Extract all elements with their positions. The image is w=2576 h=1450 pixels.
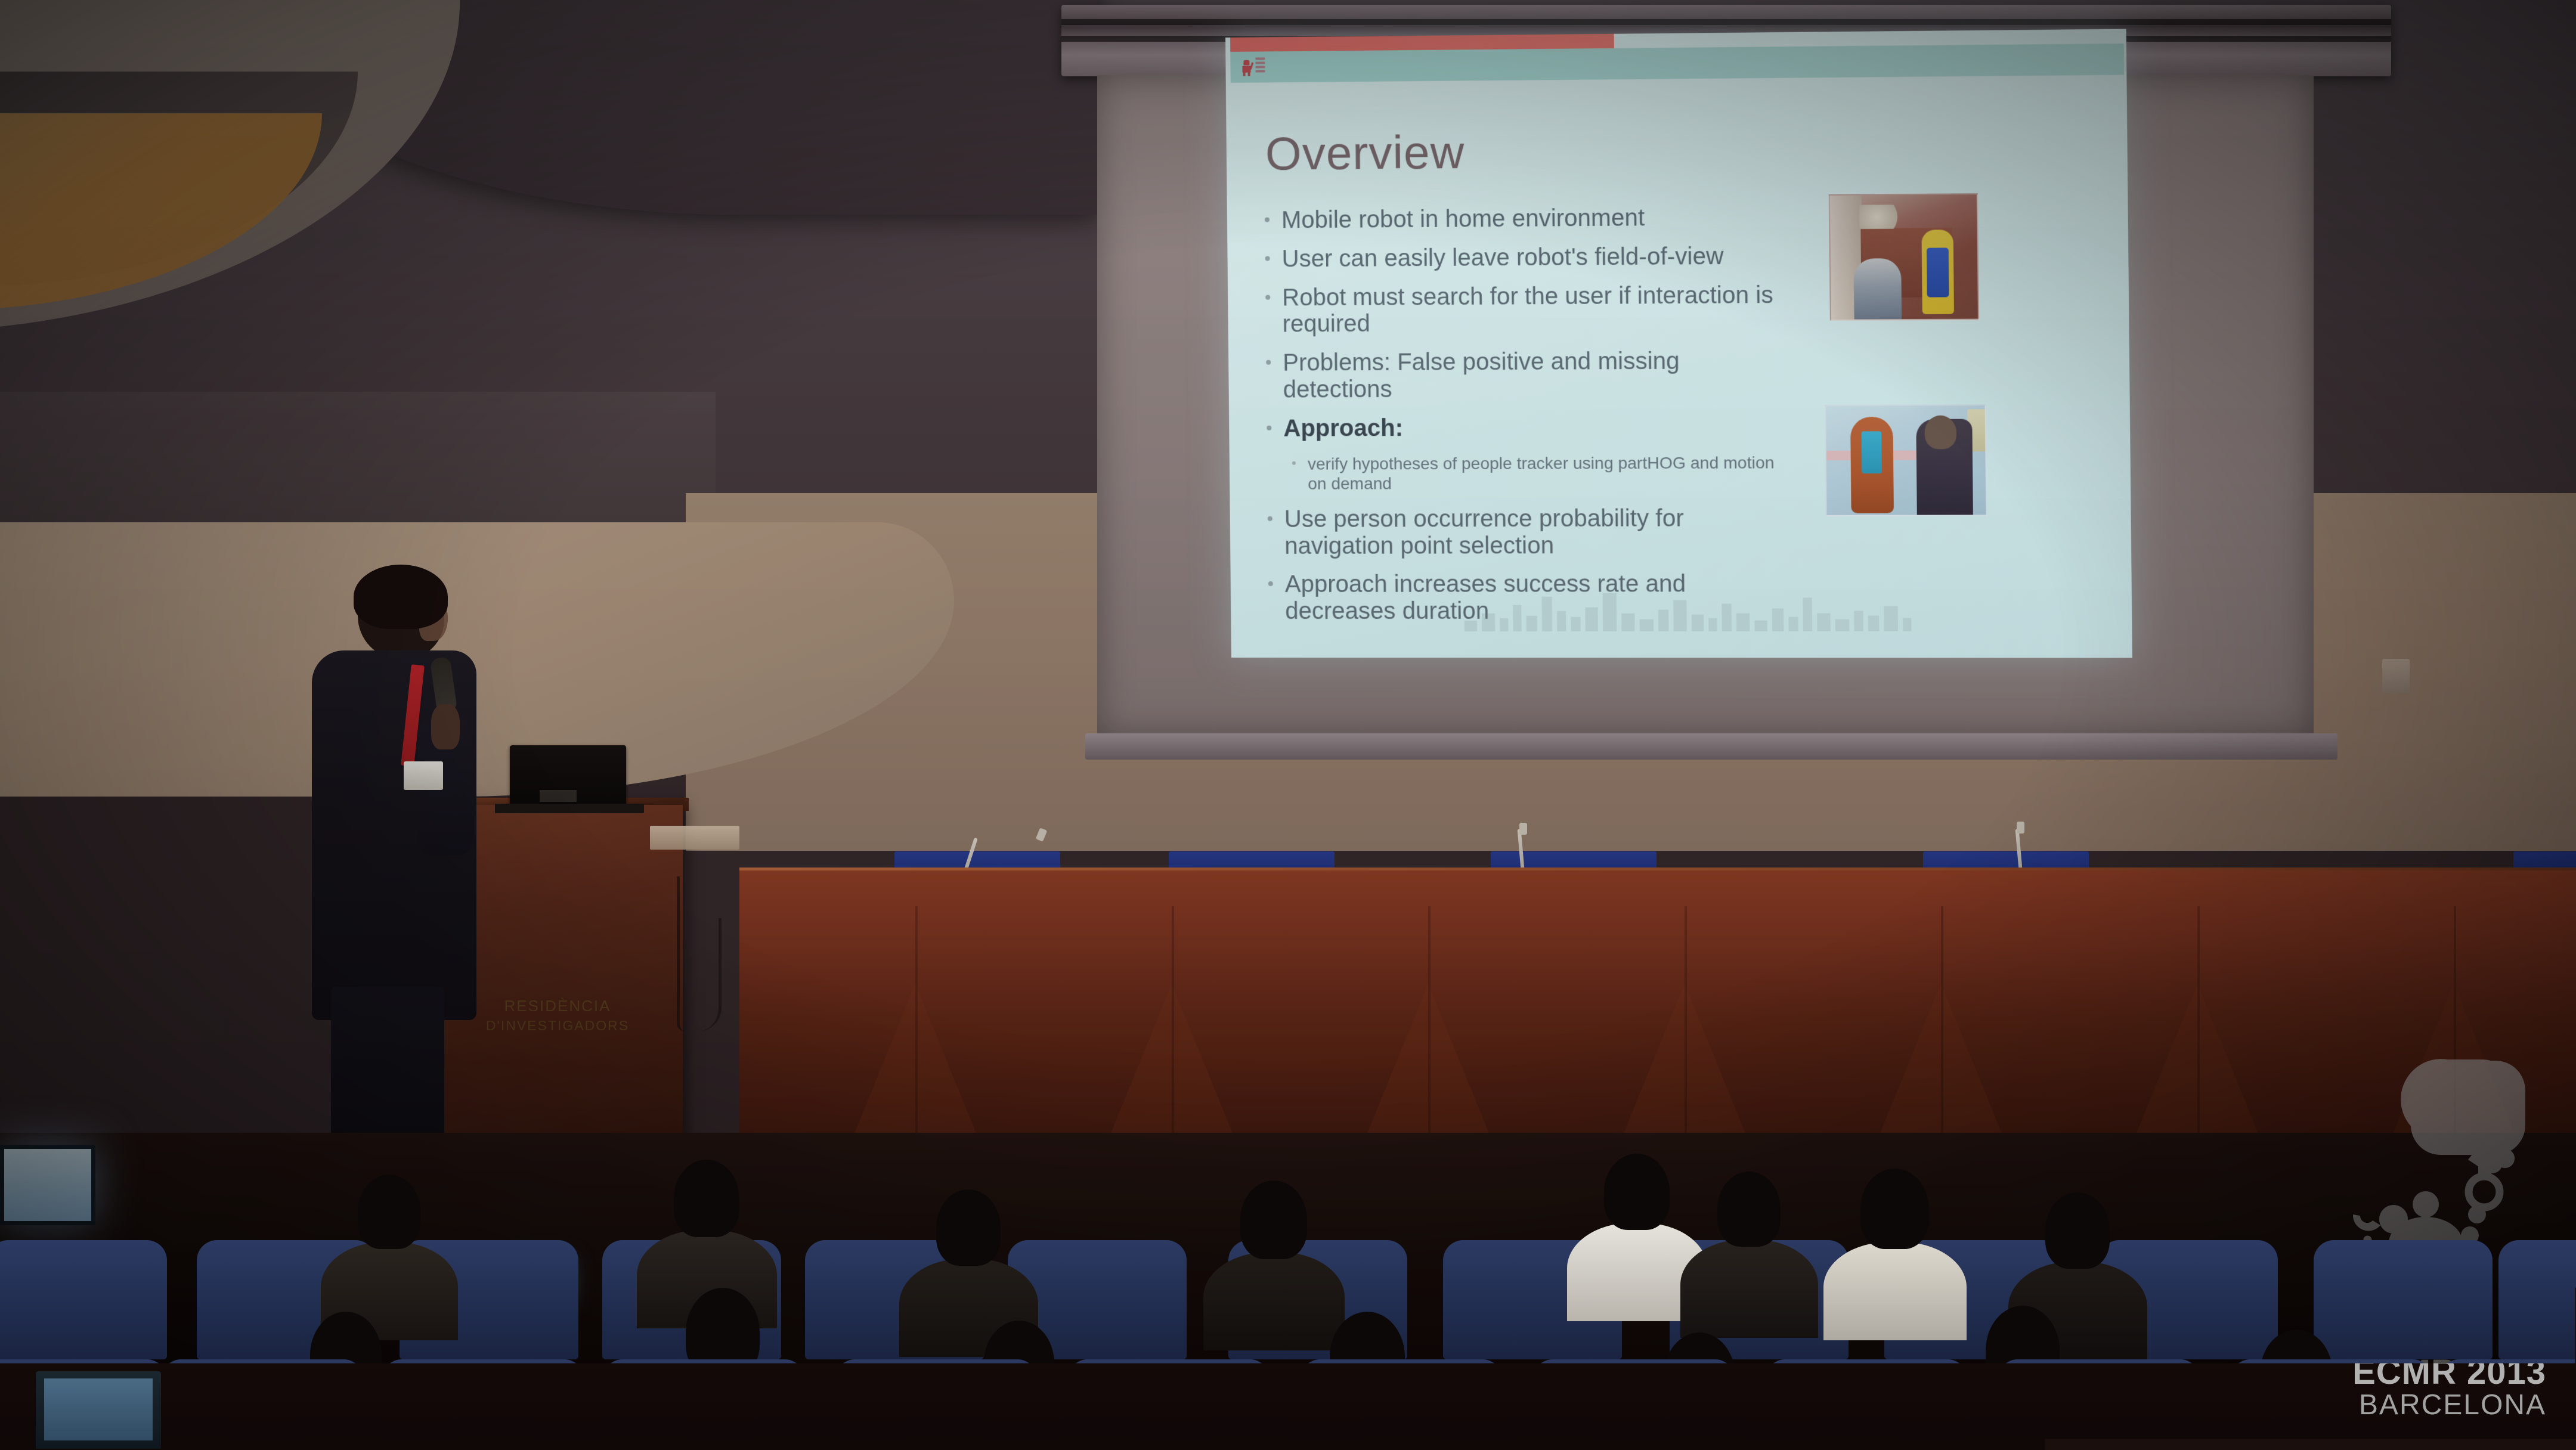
audience-seat [161,1359,364,1450]
microphone-tip [1519,823,1527,835]
audience-seat [2498,1240,2576,1359]
slide-bullet-approach: Approach: [1262,413,1779,442]
audience-seat [602,1359,805,1450]
podium-cable [686,918,722,1031]
audience-seat [1998,1359,2200,1450]
slide-sub-bullet: verify hypotheses of people tracker usin… [1262,453,1780,494]
audience-laptop-open [0,1145,95,1225]
podium-papers [650,826,739,850]
audience-head [1604,1154,1670,1230]
audience-seat [382,1359,584,1450]
slide-bullet: Problems: False positive and missing det… [1261,348,1779,404]
audience-shoulders [1203,1252,1345,1350]
audience-seat [0,1240,167,1359]
audience-area [0,1133,2576,1450]
audience-head [2045,1192,2110,1269]
audience-head [674,1160,739,1237]
audience-seat [1067,1359,1270,1450]
laptop-screen-glow [540,790,577,802]
screen-bottom-bar [1085,733,2337,760]
presenter-name-badge [404,761,443,790]
presenter-hair [354,565,448,629]
audience-shoulders [1823,1242,1967,1340]
podium-cable [677,876,685,1031]
audience-seat [2314,1240,2493,1359]
audience-head [1240,1181,1307,1259]
slide-title: Overview [1265,125,1465,181]
robot-interaction-photo [1825,404,1987,516]
red-robot-logo-icon [1239,55,1280,82]
slide-bullet-list: Mobile robot in home environment User ca… [1260,204,1782,637]
barcelona-skyline-graphic [1464,590,1900,631]
home-robot-photo [1829,193,1979,321]
audience-head [936,1189,1001,1266]
audience-seat [1300,1359,1503,1450]
laptop-base [495,804,644,813]
audience-head [1717,1172,1781,1247]
slide-bullet: Robot must search for the user if intera… [1261,281,1779,338]
projected-slide: Overview Mobile robot in home environmen… [1225,29,2132,658]
audience-head [358,1175,420,1249]
audience-seat [1532,1359,1735,1450]
audience-shoulders [1680,1240,1818,1338]
dark-wall-strip [0,392,716,535]
microphone-tip [2017,822,2024,834]
audience-seat [2439,1359,2576,1450]
slide-bullet: Mobile robot in home environment [1260,204,1778,234]
audience-seat [1765,1359,1968,1450]
audience-seat [0,1359,167,1450]
slide-bullet: User can easily leave robot's field-of-v… [1260,243,1778,272]
audience-seat [2230,1359,2433,1450]
audience-head [1860,1169,1929,1249]
audience-seat [835,1359,1038,1450]
presenter-hand [431,704,460,749]
slide-bullet: Use person occurrence probability for na… [1263,505,1781,560]
presenter [295,569,498,1219]
projection-screen: Overview Mobile robot in home environmen… [1061,5,2391,798]
conference-photo: Overview Mobile robot in home environmen… [0,0,2576,1450]
